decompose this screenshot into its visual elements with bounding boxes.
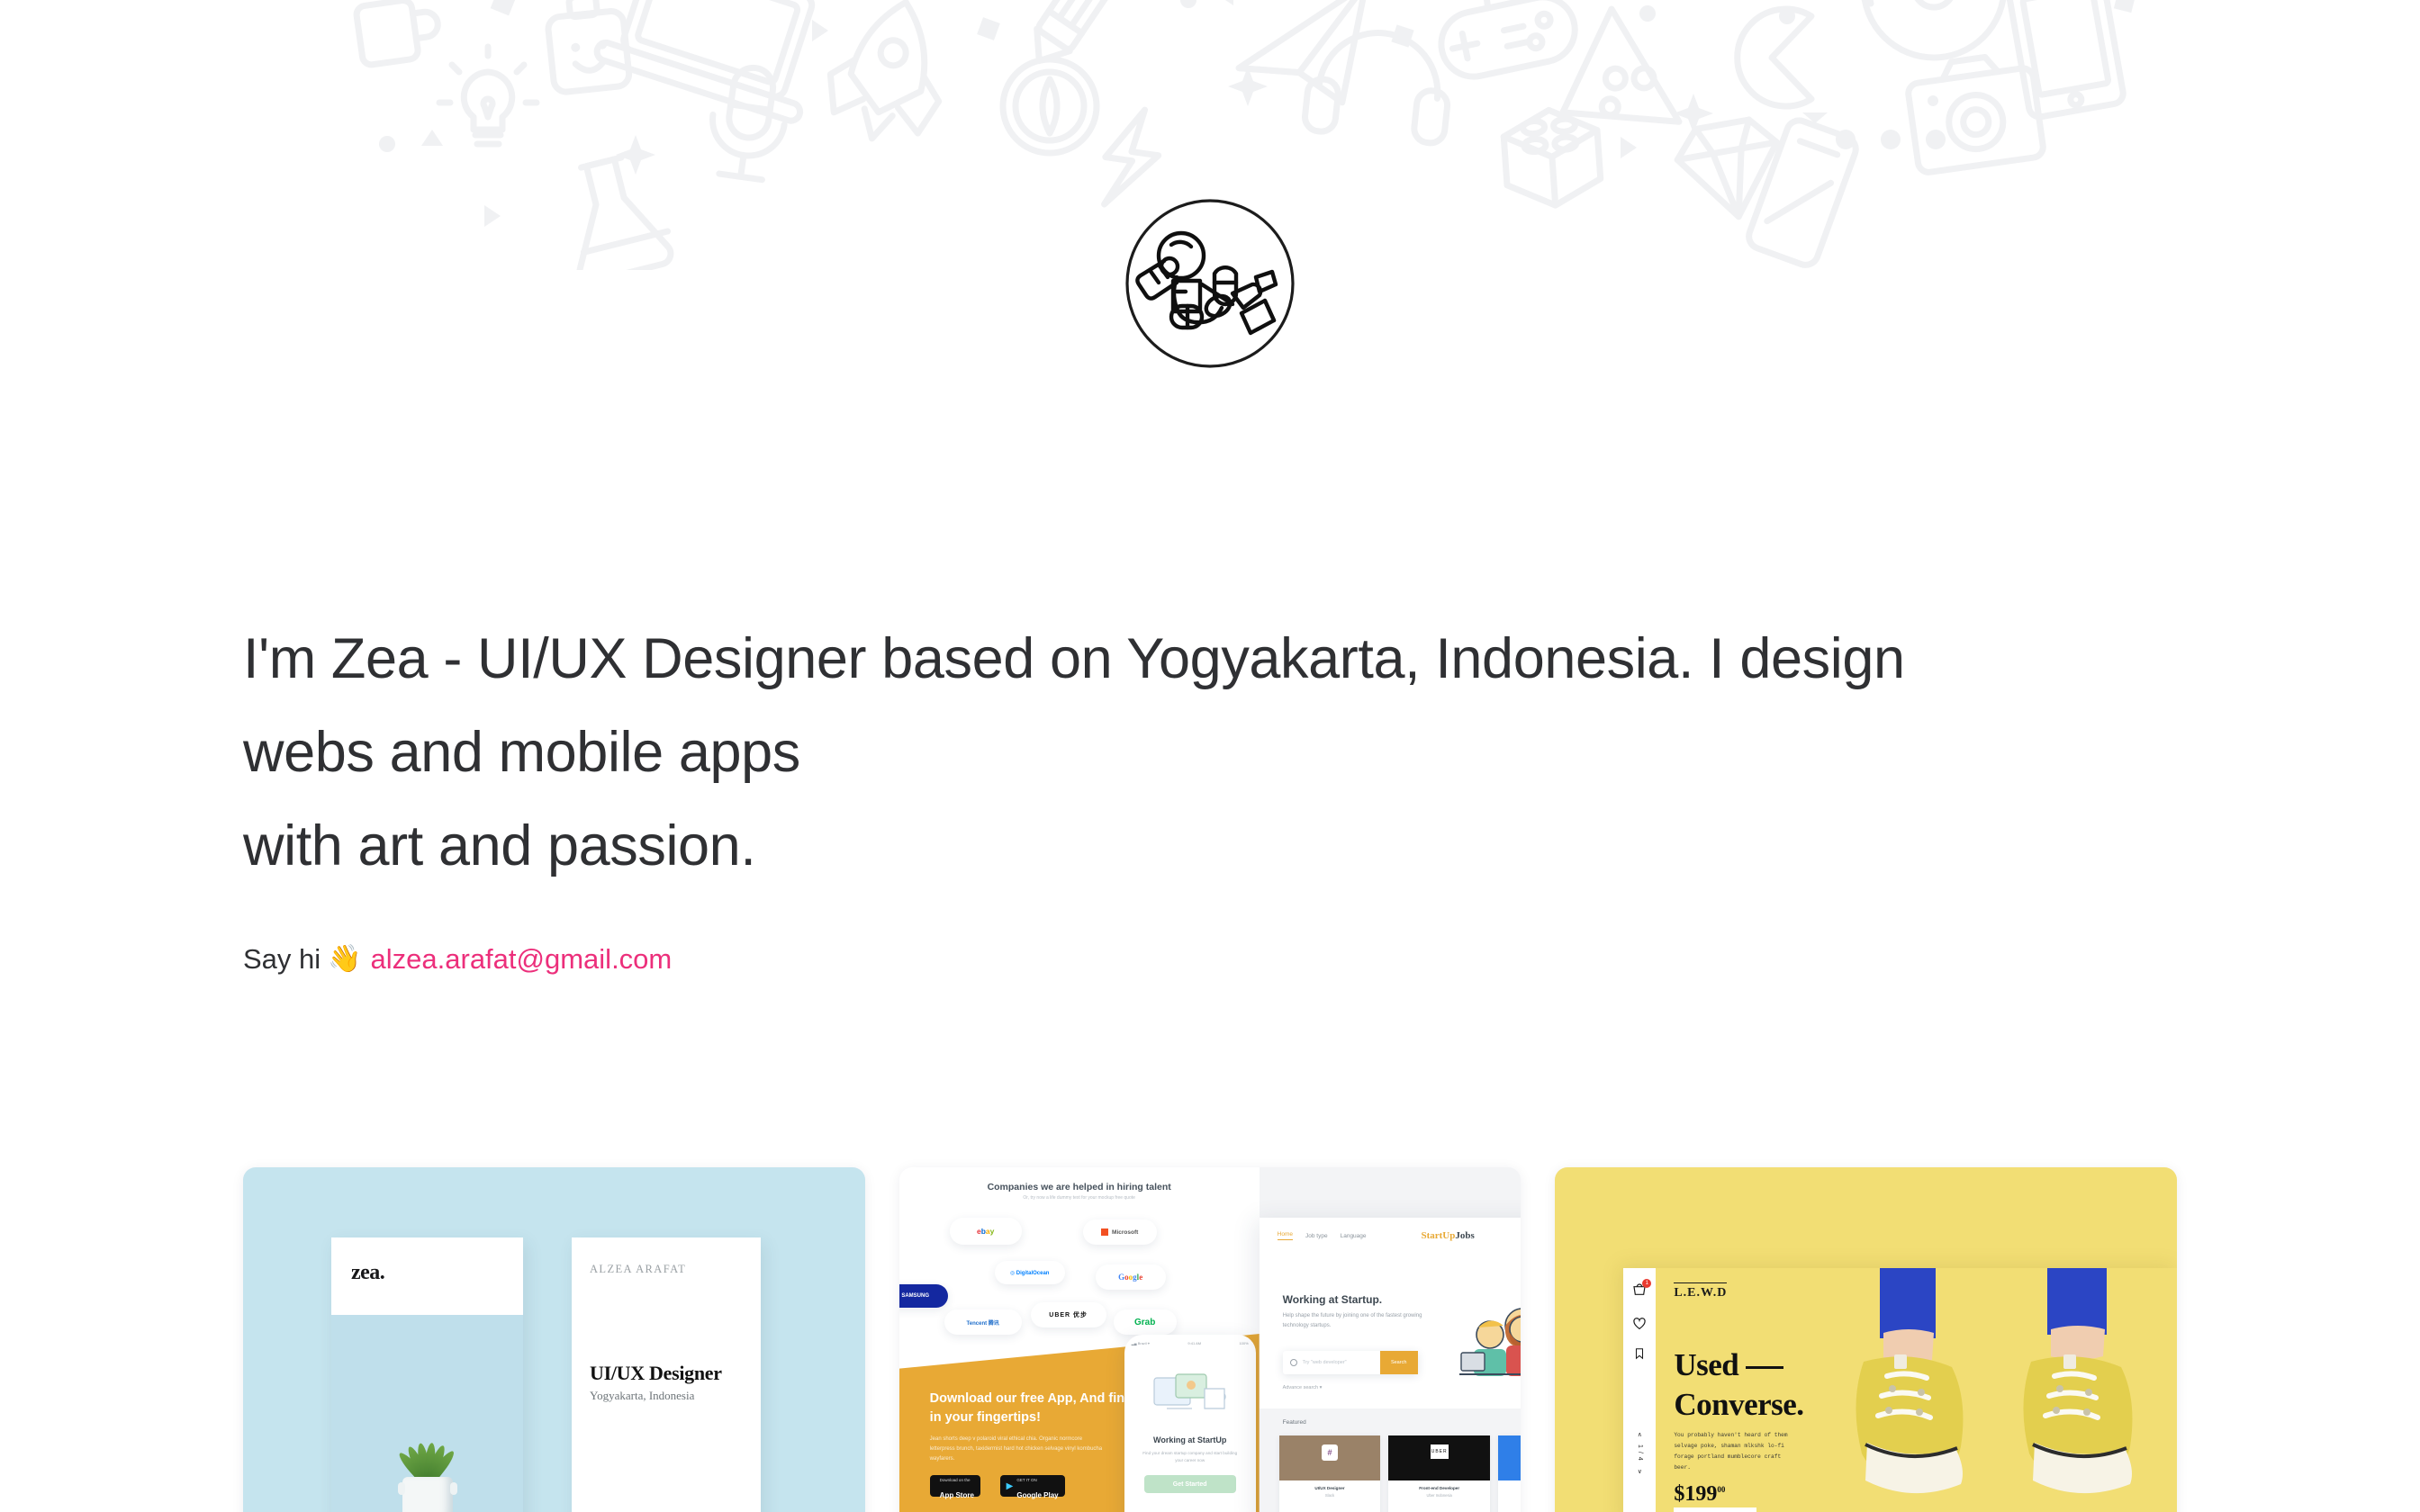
cart-badge: 1 — [1642, 1279, 1651, 1288]
job-company: Dropbox Inc — [1498, 1493, 1521, 1498]
product-title-line1: Used — [1674, 1347, 1738, 1382]
project-card-lewd-shop[interactable]: 1 ∧ 1 / 4 ∨ L.E.W.D Use — [1555, 1167, 2177, 1512]
logo-pill-samsung: SAMSUNG — [899, 1284, 948, 1308]
rocket-icon — [817, 0, 960, 152]
featured-job-card[interactable]: # UI/UX Designer Slack Full-time | Portl… — [1279, 1435, 1381, 1512]
tablet-icon — [2008, 0, 2125, 119]
site-navbar: Home Job type Language StartUpJobs Sign … — [1260, 1218, 1522, 1254]
google-play-bottom: Google Play — [1016, 1491, 1058, 1499]
featured-job-card[interactable]: ◇ Python Developer Dropbox Inc Remote | … — [1498, 1435, 1521, 1512]
portfolio-page: I'm Zea - UI/UX Designer based on Yogyak… — [0, 0, 2420, 1512]
product-title-line2: Converse. — [1674, 1387, 1803, 1422]
mug-icon — [351, 0, 442, 66]
logo-circle-outline — [1127, 201, 1293, 366]
astronaut-illustration — [1137, 233, 1276, 333]
site-hero-heading: Working at Startup. — [1283, 1293, 1382, 1306]
logo-pill-digitalocean: ◎ DigitalOcean — [995, 1261, 1065, 1284]
title-rule — [1746, 1366, 1783, 1369]
app-store-bottom: App Store — [940, 1491, 974, 1499]
logo-pill-tencent: Tencent 腾讯 — [944, 1309, 1022, 1335]
nav-item-home[interactable]: Home — [1278, 1231, 1293, 1240]
app-store-top: Download on the — [940, 1478, 971, 1482]
lightning-icon — [1099, 105, 1165, 211]
logo-pill-google: Google — [1096, 1264, 1166, 1290]
app-store-badge[interactable]: Download on the App Store — [930, 1475, 980, 1497]
job-title: Python Developer — [1498, 1486, 1521, 1490]
phone-get-started-button[interactable]: Get Started — [1144, 1475, 1236, 1493]
job-company: Slack — [1279, 1493, 1381, 1498]
landing-page-mockup: Companies we are helped in hiring talent… — [899, 1167, 1260, 1512]
product-price: $19900 — [1674, 1482, 1725, 1507]
brand-part-jobs: Jobs — [1455, 1230, 1474, 1241]
flask-icon — [555, 151, 675, 270]
converse-shoes-photo — [1844, 1268, 2177, 1512]
cart-icon[interactable]: 1 — [1632, 1282, 1647, 1301]
bookmark-icon[interactable] — [1633, 1346, 1646, 1361]
price-main: $199 — [1674, 1482, 1717, 1506]
site-hero-body: Help shape the future by joining one of … — [1283, 1311, 1431, 1331]
search-button[interactable]: Search — [1380, 1351, 1418, 1374]
logo-pill-ebay: ebay — [950, 1218, 1022, 1245]
plant-illustration — [384, 1426, 471, 1512]
companies-headline: Companies we are helped in hiring talent — [899, 1182, 1260, 1192]
price-cents: 00 — [1717, 1485, 1725, 1494]
startupjobs-site-mockup: Home Job type Language StartUpJobs Sign … — [1260, 1218, 1522, 1512]
shop-sidebar: 1 ∧ 1 / 4 ∨ — [1623, 1268, 1656, 1512]
product-description: You probably haven't heard of them selva… — [1674, 1430, 1800, 1473]
paper-plane-icon — [1232, 0, 1378, 112]
nav-item-job-type[interactable]: Job type — [1305, 1233, 1328, 1239]
google-play-badge[interactable]: ▶ GET IT ON Google Play — [1000, 1475, 1065, 1497]
plant-pot — [402, 1477, 453, 1512]
job-company: Uber Indonesia — [1388, 1493, 1490, 1498]
advance-search-toggle[interactable]: Advance search ▾ — [1283, 1385, 1323, 1390]
shop-product-page: 1 ∧ 1 / 4 ∨ L.E.W.D Use — [1623, 1268, 2177, 1512]
waving-hand-icon: 👋 — [328, 946, 361, 973]
pager-count: 1 / 4 — [1637, 1444, 1643, 1462]
nav-item-language[interactable]: Language — [1341, 1233, 1367, 1239]
pizza-icon — [1563, 4, 1706, 148]
search-icon — [1290, 1359, 1297, 1366]
logo-pill-uber: UBER 优步 — [1031, 1302, 1106, 1327]
job-title: Front-end Developer — [1388, 1486, 1490, 1490]
pencil-icon — [1023, 0, 1140, 72]
heart-icon[interactable] — [1632, 1317, 1647, 1331]
promo-body: Jean shorts deep v polaroid viral ethica… — [930, 1435, 1106, 1464]
startupjobs-brand: StartUpJobs — [1379, 1230, 1517, 1241]
zea-logotype: zea. — [351, 1261, 384, 1285]
pager-up-icon[interactable]: ∧ — [1638, 1431, 1642, 1438]
contact-line: Say hi 👋 alzea.arafat@gmail.com — [243, 940, 2179, 979]
project-card-zea-branding[interactable]: zea. ALZ — [243, 1167, 865, 1512]
say-hi-label: Say hi — [243, 940, 321, 979]
featured-jobs-list: # UI/UX Designer Slack Full-time | Portl… — [1279, 1435, 1522, 1512]
gamepad-icon — [1427, 0, 1581, 83]
camera-icon — [1905, 51, 2045, 174]
laptop-icon — [595, 0, 835, 123]
job-search-input[interactable]: Try "web developer" Search — [1283, 1351, 1418, 1374]
add-to-cart-button[interactable]: ADD TO CART — [1674, 1507, 1756, 1512]
plant-leaves — [395, 1430, 460, 1484]
project-card-grid: zea. ALZ — [243, 1167, 2177, 1512]
phone-heading: Working at StartUp — [1124, 1435, 1256, 1444]
featured-label: Featured — [1283, 1419, 1306, 1426]
diamond-icon — [1673, 116, 1788, 226]
phone-illustration — [1149, 1372, 1232, 1423]
lightbulb-icon — [439, 47, 537, 144]
plant-photo — [331, 1315, 523, 1512]
page-title: I'm Zea - UI/UX Designer based on Yogyak… — [243, 612, 2035, 893]
pacman-icon — [1738, 9, 1811, 106]
brand-part-startup: StartUp — [1421, 1230, 1455, 1241]
pager-down-icon[interactable]: ∨ — [1638, 1468, 1642, 1475]
phone-status-bar: ▂▄ Brazil ⌖9:41 AM100% — [1132, 1341, 1249, 1345]
hero-section: I'm Zea - UI/UX Designer based on Yogyak… — [243, 612, 2179, 979]
lewd-brand-logo: L.E.W.D — [1674, 1282, 1727, 1300]
product-title: Used Converse. — [1674, 1345, 1803, 1425]
project-card-startupjobs[interactable]: Companies we are helped in hiring talent… — [899, 1167, 1522, 1512]
job-title: UI/UX Designer — [1279, 1486, 1381, 1490]
lego-brick-icon — [1502, 107, 1602, 209]
lego-head-icon — [546, 0, 630, 93]
featured-job-card[interactable]: UBER Front-end Developer Uber Indonesia … — [1388, 1435, 1490, 1512]
business-card-role: UI/UX Designer — [590, 1362, 722, 1385]
companies-subheadline: Or, try now a life dummy text for your m… — [899, 1195, 1260, 1201]
compass-icon — [1003, 59, 1097, 153]
business-card: ALZEA ARAFAT UI/UX Designer Yogyakarta, … — [572, 1237, 761, 1512]
search-placeholder-text: Try "web developer" — [1303, 1360, 1347, 1365]
business-card-location: Yogyakarta, Indonesia — [590, 1389, 694, 1403]
carousel-pager[interactable]: ∧ 1 / 4 ∨ — [1637, 1431, 1643, 1475]
team-illustration — [1459, 1300, 1522, 1376]
logo-pill-grab: Grab — [1114, 1309, 1177, 1335]
logo-pill-microsoft: Microsoft — [1083, 1219, 1157, 1245]
email-link[interactable]: alzea.arafat@gmail.com — [371, 940, 673, 979]
business-card-name: ALZEA ARAFAT — [590, 1263, 686, 1276]
astronaut-logo[interactable] — [1124, 198, 1296, 369]
phone-mockup: ▂▄ Brazil ⌖9:41 AM100% Working at StartU… — [1124, 1335, 1256, 1512]
headphones-icon — [1304, 26, 1454, 145]
microphone-icon — [705, 63, 791, 182]
google-play-top: GET IT ON — [1016, 1478, 1036, 1482]
brand-logo-card: zea. — [331, 1237, 523, 1512]
phone-icon — [1746, 117, 1859, 268]
phone-body: Find your dream startup company and star… — [1139, 1450, 1242, 1464]
cd-icon — [1864, 0, 2004, 58]
